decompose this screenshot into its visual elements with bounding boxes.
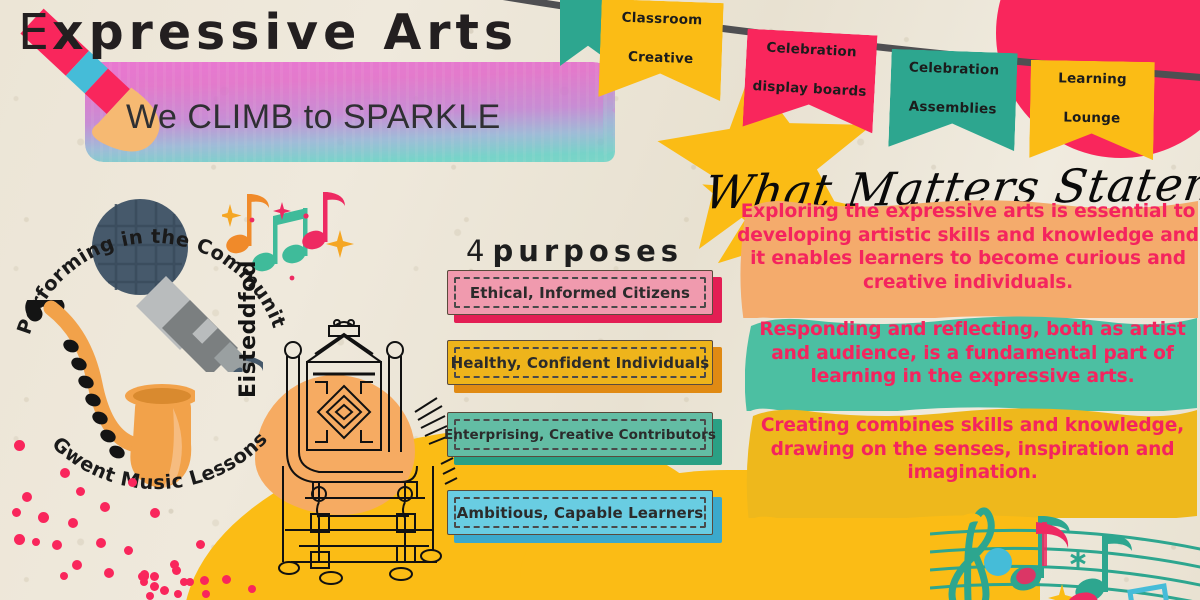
purpose-box-face: Healthy, Confident Individuals — [447, 340, 713, 385]
purpose-box-healthy-confident-individuals[interactable]: Healthy, Confident Individuals — [447, 340, 719, 392]
bunting-flag-celebration-assemblies[interactable]: Celebration Assemblies — [888, 49, 1017, 151]
bardic-chair-icon — [255, 316, 465, 586]
page-title: Expressive Arts — [18, 4, 518, 61]
purpose-label: Ambitious, Capable Learners — [457, 504, 704, 522]
flag-line: Creative — [620, 48, 701, 70]
expressive-arts-poster: Expressive Arts We CLIMB to SPARKLE Clas… — [0, 0, 1200, 600]
purpose-box-face: Enterprising, Creative Contributors — [447, 412, 713, 457]
purpose-box-face: Ethical, Informed Citizens — [447, 270, 713, 315]
purpose-box-face: Ambitious, Capable Learners — [447, 490, 713, 535]
flag-line: Celebration — [909, 58, 1000, 81]
purposes-word: purposes — [492, 234, 683, 268]
what-matters-statement-1: Exploring the expressive arts is essenti… — [736, 196, 1200, 318]
flag-line: Classroom — [621, 9, 702, 31]
what-matters-text: Responding and reflecting, both as artis… — [745, 318, 1200, 389]
purpose-label: Ethical, Informed Citizens — [470, 284, 690, 302]
purpose-box-enterprising-creative-contributors[interactable]: Enterprising, Creative Contributors — [447, 412, 719, 464]
purpose-box-dashed-frame: Healthy, Confident Individuals — [454, 347, 706, 378]
purpose-box-ambitious-capable-learners[interactable]: Ambitious, Capable Learners — [447, 490, 719, 542]
purpose-box-dashed-frame: Ethical, Informed Citizens — [454, 277, 706, 308]
purpose-box-dashed-frame: Ambitious, Capable Learners — [454, 497, 706, 528]
purpose-label: Enterprising, Creative Contributors — [444, 427, 716, 443]
flag-line: display boards — [752, 77, 867, 103]
page-title-lead: E — [18, 4, 52, 61]
label-eisteddfod: Eisteddfod — [236, 260, 261, 398]
treble-clef-staff-icon — [930, 500, 1200, 600]
purpose-box-dashed-frame: Enterprising, Creative Contributors — [454, 419, 706, 450]
purposes-heading: 4purposes — [466, 234, 683, 268]
flag-line: Lounge — [1057, 109, 1126, 130]
poster-subtitle: We CLIMB to SPARKLE — [126, 98, 501, 137]
purpose-box-ethical-informed-citizens[interactable]: Ethical, Informed Citizens — [447, 270, 719, 322]
bunting: Classroom Creative Stations Celebration … — [560, 0, 1200, 96]
what-matters-text: Creating combines skills and knowledge, … — [745, 414, 1200, 485]
purpose-label: Healthy, Confident Individuals — [451, 354, 710, 372]
page-title-rest: xpressive Arts — [52, 4, 518, 61]
what-matters-text: Exploring the expressive arts is essenti… — [736, 200, 1200, 294]
arc-text: Gwent Music Lessons — [48, 427, 272, 494]
purposes-count: 4 — [466, 234, 484, 268]
flag-line: Assemblies — [907, 98, 998, 121]
bunting-flag-celebration-display-boards[interactable]: Celebration display boards — [743, 29, 878, 134]
what-matters-statement-2: Responding and reflecting, both as artis… — [745, 316, 1200, 411]
svg-text:Gwent Music Lessons: Gwent Music Lessons — [48, 427, 272, 494]
flag-line: Celebration — [754, 38, 869, 64]
flag-line: Learning — [1058, 69, 1127, 90]
